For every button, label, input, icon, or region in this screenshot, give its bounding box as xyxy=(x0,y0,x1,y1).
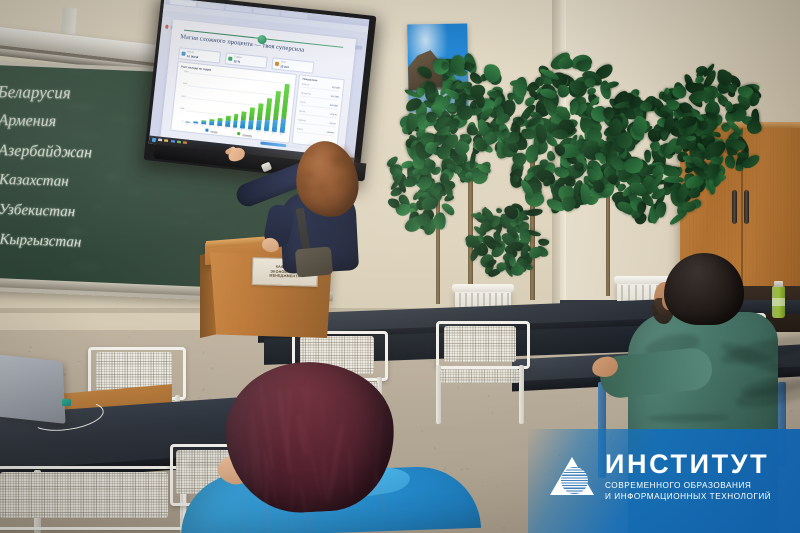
hair-strand xyxy=(276,386,294,476)
logo-subtitle-1: СОВРЕМЕННОГО ОБРАЗОВАНИЯ xyxy=(605,482,771,490)
hair-strand xyxy=(319,391,328,439)
hair-strand xyxy=(325,420,346,505)
hair-curl xyxy=(345,177,358,191)
classroom-photo: БеларусияАрменияАзербайджанКазахстанУзбе… xyxy=(0,0,800,533)
hair-curl xyxy=(328,197,334,208)
logo-title: ИНСТИТУТ xyxy=(605,451,771,478)
hair-strand xyxy=(347,446,355,498)
plaque-line: МЕНЕДЖМЕНТА xyxy=(269,274,300,280)
fabric-fold xyxy=(647,414,730,423)
front-chair-frame[interactable] xyxy=(0,466,186,530)
logo-globe-icon xyxy=(561,467,588,494)
shoulder-bag xyxy=(295,246,333,277)
logo-text: ИНСТИТУТ СОВРЕМЕННОГО ОБРАЗОВАНИЯ И ИНФО… xyxy=(605,451,771,500)
institute-logo: ИНСТИТУТ СОВРЕМЕННОГО ОБРАЗОВАНИЯ И ИНФО… xyxy=(528,429,800,533)
hair-strand xyxy=(304,380,311,434)
chair-seat[interactable] xyxy=(440,369,520,383)
hair-curl xyxy=(302,148,317,156)
logo-icon xyxy=(550,455,596,497)
chair-backrest[interactable] xyxy=(436,321,530,369)
desk-object xyxy=(62,399,71,406)
student-right-hair xyxy=(664,253,744,325)
logo-subtitle-2: И ИНФОРМАЦИОННЫХ ТЕХНОЛОГИЙ xyxy=(605,493,771,501)
